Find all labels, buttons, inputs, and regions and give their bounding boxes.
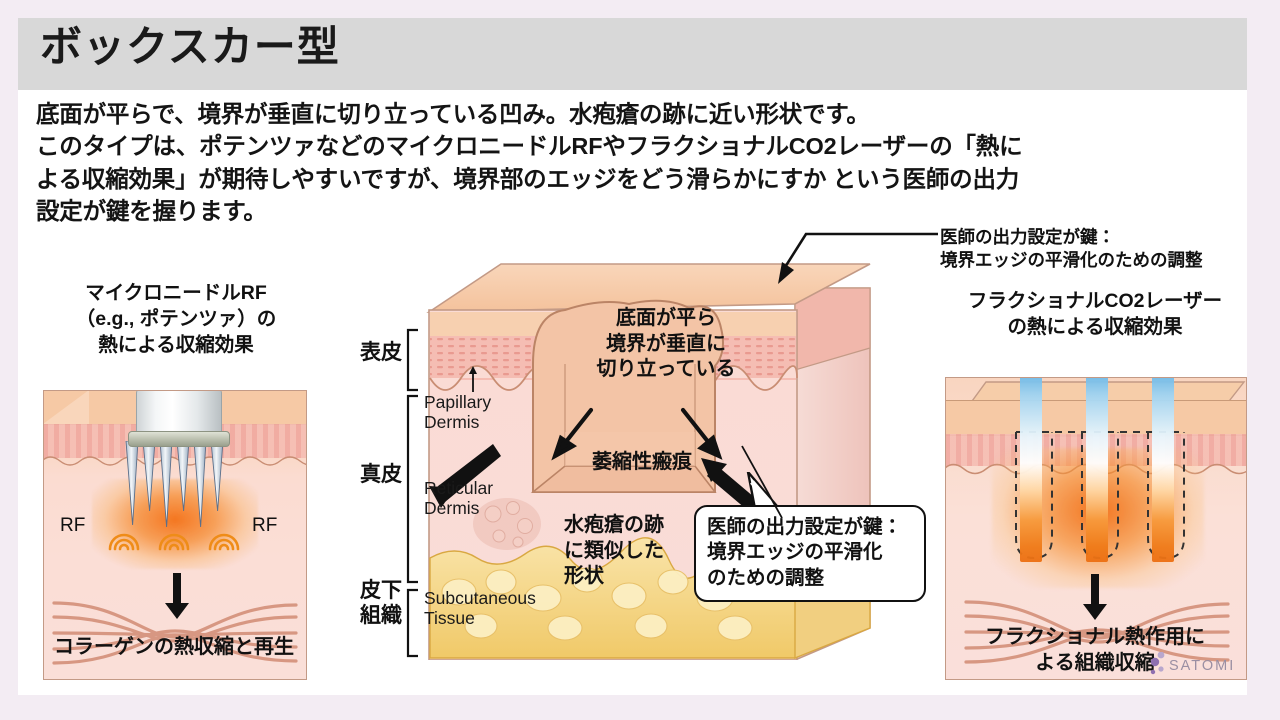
term-subcutaneous-tissue-line-2: Tissue: [424, 608, 536, 628]
lead-note-line-2: 境界エッジの平滑化のための調整: [940, 249, 1240, 272]
right-heading-line-2: の熱による収縮効果: [945, 314, 1245, 340]
body-copy-line-3: よる収縮効果」が期待しやすいですが、境界部のエッジをどう滑らかにすか という医師…: [36, 163, 1236, 195]
left-heading-line-3: 熱による収縮効果: [42, 332, 310, 358]
rf-wave-arcs-icon: [102, 523, 252, 555]
doctor-output-lead-note: 医師の出力設定が鍵： 境界エッジの平滑化のための調整: [940, 226, 1240, 273]
vesicle-similarity-note: 水疱瘡の跡 に類似した 形状: [564, 513, 694, 590]
right-panel-heading: フラクショナルCO2レーザー の熱による収縮効果: [945, 288, 1245, 340]
term-reticular-dermis-line-2: Dermis: [424, 498, 493, 518]
body-copy-line-4: 設定が鍵を握ります。: [36, 195, 1236, 227]
layer-label-subcutaneous: 皮下 組織: [340, 578, 402, 628]
page-title: ボックスカー型: [40, 26, 340, 68]
layer-label-dermis: 真皮: [340, 462, 402, 487]
term-reticular-dermis: Reticular Dermis: [424, 478, 493, 519]
brand-wordmark: SATOMI: [1169, 658, 1235, 674]
vesicle-note-line-1: 水疱瘡の跡: [564, 513, 694, 539]
callout-leader-line: [736, 440, 786, 520]
left-panel-caption: コラーゲンの熱収縮と再生: [43, 630, 305, 659]
right-heading-line-1: フラクショナルCO2レーザー: [945, 288, 1245, 314]
term-papillary-dermis-line-2: Dermis: [424, 412, 491, 432]
vesicle-note-line-3: 形状: [564, 564, 694, 590]
laser-beam-3: [1152, 377, 1174, 562]
term-subcutaneous-tissue-line-1: Subcutaneous: [424, 588, 536, 608]
lead-note-line-1: 医師の出力設定が鍵：: [940, 226, 1240, 249]
scar-shape-note-line-2: 境界が垂直に: [586, 332, 746, 358]
left-panel-heading: マイクロニードルRF （e.g., ポテンツァ）の 熱による収縮効果: [42, 280, 310, 358]
body-copy-line-1: 底面が平らで、境界が垂直に切り立っている凹み。水疱瘡の跡に近い形状です。: [36, 98, 1236, 130]
term-papillary-dermis-line-1: Papillary: [424, 392, 491, 412]
rf-handpiece-flange: [128, 431, 230, 447]
center-callout-line-3: のための調整: [707, 566, 913, 591]
term-papillary-dermis: Papillary Dermis: [424, 392, 491, 433]
rf-label-right: RF: [252, 515, 277, 537]
laser-beam-1: [1020, 377, 1042, 562]
laser-beam-2: [1086, 377, 1108, 562]
left-heading-line-2: （e.g., ポテンツァ）の: [42, 306, 310, 332]
rf-label-left: RF: [60, 515, 85, 537]
scar-shape-note-line-3: 切り立っている: [586, 357, 746, 383]
center-callout-bubble: 医師の出力設定が鍵： 境界エッジの平滑化 のための調整: [694, 505, 926, 602]
body-copy: 底面が平らで、境界が垂直に切り立っている凹み。水疱瘡の跡に近い形状です。 このタ…: [36, 98, 1236, 228]
right-caption-line-1: フラクショナル熱作用に: [945, 624, 1245, 650]
layer-label-epidermis: 表皮: [340, 340, 402, 365]
microneedle-array-icon: [124, 441, 232, 529]
left-heading-line-1: マイクロニードルRF: [42, 280, 310, 306]
papillary-pointer-arrow-icon: [466, 366, 480, 392]
vesicle-note-line-2: に類似した: [564, 539, 694, 565]
term-reticular-dermis-line-1: Reticular: [424, 478, 493, 498]
slide-root: ボックスカー型 底面が平らで、境界が垂直に切り立っている凹み。水疱瘡の跡に近い形…: [0, 0, 1280, 720]
top-lead-line: [778, 228, 940, 284]
scar-shape-note: 底面が平ら 境界が垂直に 切り立っている: [586, 306, 746, 383]
atrophic-scar-label: 萎縮性瘢痕: [572, 450, 712, 476]
body-copy-line-2: このタイプは、ポテンツァなどのマイクロニードルRFやフラクショナルCO2レーザー…: [36, 130, 1236, 162]
term-subcutaneous-tissue: Subcutaneous Tissue: [424, 588, 536, 629]
center-callout-line-2: 境界エッジの平滑化: [707, 540, 913, 565]
layer-label-subcutaneous-line-2: 組織: [340, 603, 402, 628]
satomi-logo-icon: [1148, 652, 1168, 678]
scar-shape-note-line-1: 底面が平ら: [586, 306, 746, 332]
layer-label-subcutaneous-line-1: 皮下: [340, 578, 402, 603]
rf-handpiece-body: [136, 390, 222, 434]
